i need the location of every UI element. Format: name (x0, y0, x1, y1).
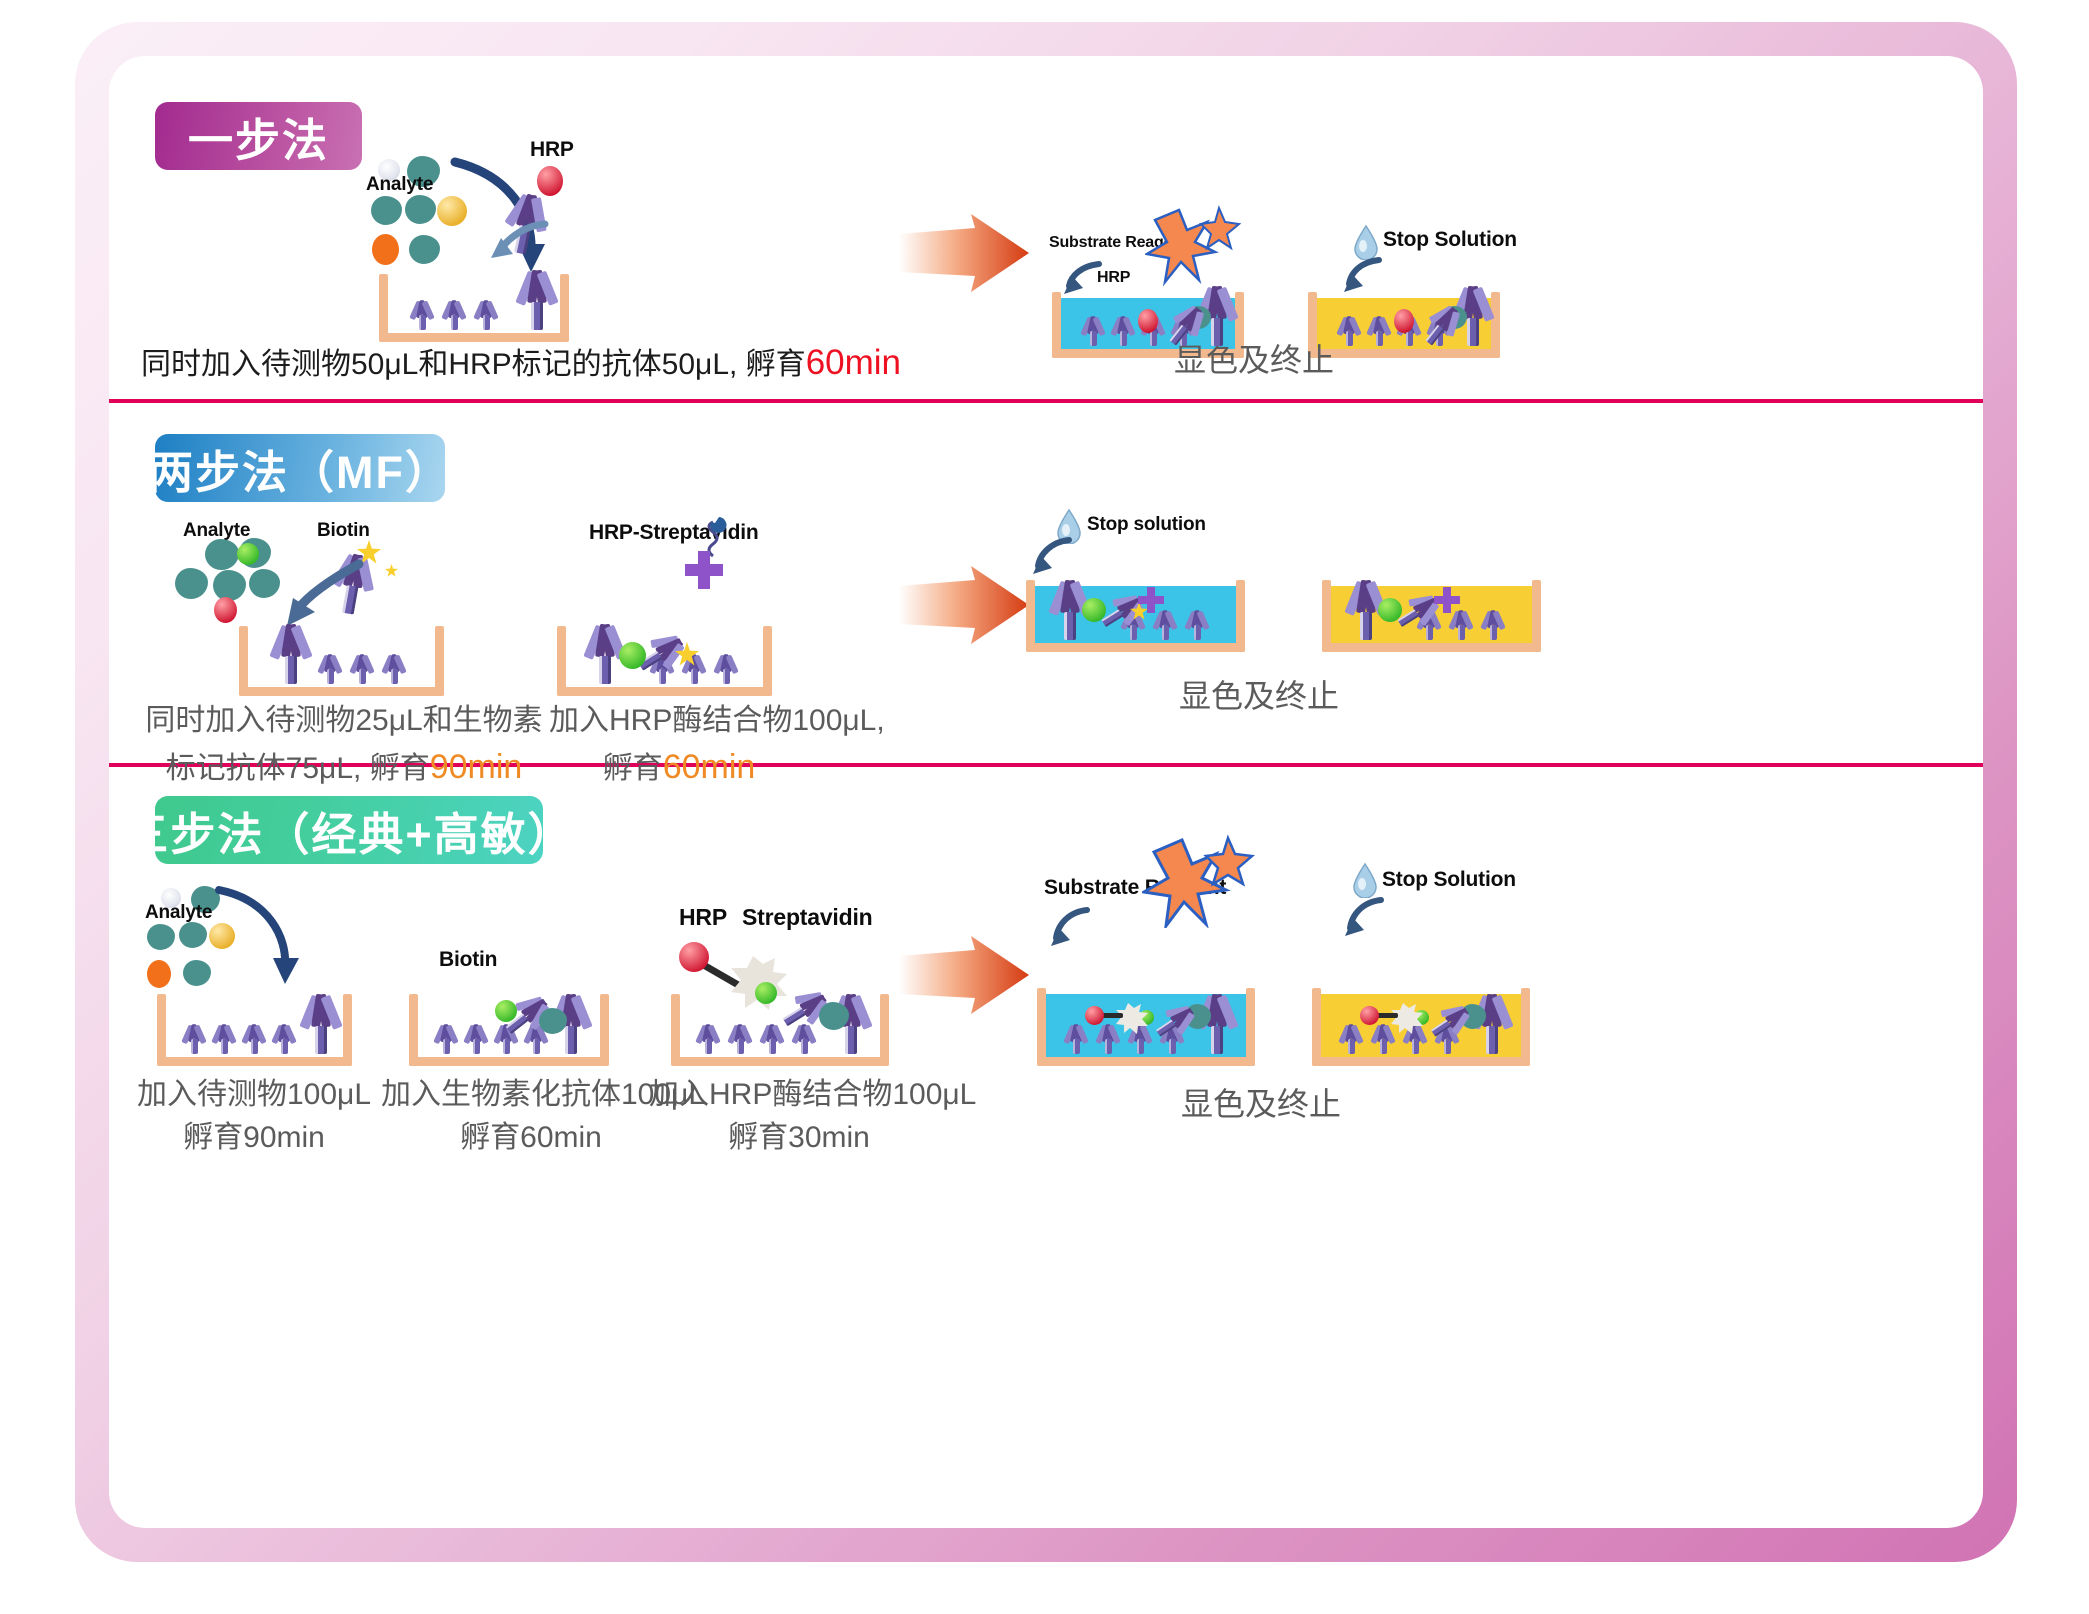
caption-row3-step2-l2: 孵育60min (460, 1121, 602, 1154)
biotin-tag-icon (619, 642, 646, 669)
row-divider-1 (109, 399, 1983, 403)
analyte-blob (183, 960, 211, 986)
hrp-enzyme-icon (1138, 309, 1158, 333)
capture-antibody (409, 300, 435, 330)
streptavidin-label-row3: Streptavidin (742, 904, 873, 931)
microplate-well-coated-row3 (157, 994, 352, 1066)
analyte-blob (205, 539, 239, 570)
caption-row3-step1-l2: 孵育90min (183, 1121, 325, 1154)
analyte-blob (409, 235, 440, 264)
stop-add-arrow-icon (1341, 254, 1387, 296)
microplate-well-developed-row3 (1037, 988, 1255, 1066)
stop-solution-label-row3: Stop Solution (1382, 868, 1516, 892)
caption-row3-step1: 加入待测物100μL 孵育90min (119, 1074, 389, 1159)
biotin-label-row2: Biotin (317, 520, 370, 542)
microplate-well-coated-row1 (379, 274, 569, 342)
caption-row2-step2-l2a: 孵育 (603, 752, 663, 785)
stop-add-arrow-row2-icon (1029, 534, 1077, 578)
caption-row3-step2: 加入生物素化抗体100μL 孵育60min (381, 1074, 681, 1159)
capture-antibody (473, 300, 499, 330)
sparkle-burst-row3-icon (1142, 834, 1262, 928)
analyte-red-blob (214, 597, 237, 623)
microplate-well-stopped-row2 (1322, 580, 1541, 652)
caption-row2-step2: 加入HRP酶结合物100μL, 孵育60min (549, 700, 809, 791)
streptavidin-icon (1147, 587, 1155, 613)
analyte-blob (179, 922, 207, 948)
diagram-canvas: 一步法 Analyte HRP 同时加入待测物50μL和HRP标记的抗体50μL… (109, 56, 1983, 1528)
caption-row2-step1-l2a: 标记抗体75μL, 孵育 (166, 752, 430, 785)
biotin-tag-icon (237, 543, 259, 565)
caption-row2-step2-time: 60min (663, 748, 756, 786)
caption-row2-step1-time: 90min (430, 748, 523, 786)
caption-row3-step3-l1: 加入HRP酶结合物100μL (649, 1078, 976, 1111)
biotin-tag-icon (495, 1000, 517, 1022)
stop-add-arrow-row3-icon (1341, 894, 1389, 940)
microplate-well-stopped-row1 (1308, 292, 1500, 358)
analyte-blob (371, 196, 402, 225)
analyte-label: Analyte (366, 174, 433, 196)
analyte-blob (147, 924, 175, 950)
analyte-blob (213, 570, 246, 601)
biotin-tag-icon (755, 982, 777, 1004)
analyte-blob (405, 195, 436, 224)
streptavidin-icon (1390, 1002, 1424, 1034)
hrp-label: HRP (530, 138, 574, 162)
biotin-label-row3: Biotin (439, 948, 497, 972)
hrp-add-arrow-icon (487, 216, 553, 268)
hrp-enzyme-icon (1085, 1006, 1104, 1025)
stop-solution-label: Stop Solution (1383, 228, 1517, 252)
caption-row1: 同时加入待测物50μL和HRP标记的抗体50μL, 孵育60min (141, 338, 901, 388)
stop-solution-label-row2: Stop solution (1087, 514, 1206, 536)
analyte-to-well-arrow-row3-icon (213, 882, 307, 988)
process-arrow-row3-icon (899, 936, 1029, 1014)
hrp-enzyme-icon (679, 942, 709, 972)
microplate-well-coated-row2 (239, 626, 444, 696)
caption-row3-step1-l1: 加入待测物100μL (137, 1078, 371, 1111)
process-arrow-row1-icon (899, 214, 1029, 292)
microplate-well-biotin-row3 (409, 994, 609, 1066)
microplate-well-stopped-row3 (1312, 988, 1530, 1066)
caption-row1-main: 同时加入待测物50μL和HRP标记的抗体50μL, 孵育 (141, 348, 806, 381)
caption-row2-step1: 同时加入待测物25μL和生物素 标记抗体75μL, 孵育90min (129, 700, 559, 791)
hrp-enzyme-icon (1394, 309, 1414, 333)
hrp-enzyme-icon (537, 166, 563, 196)
streptavidin-icon (698, 551, 710, 589)
section-badge-one-step: 一步法 (155, 102, 362, 170)
sparkle-burst-icon (1145, 204, 1253, 288)
capture-antibody-large (515, 270, 559, 330)
hrp-streptavidin-label: HRP-Streptavidin (589, 521, 759, 545)
microplate-well-conjugate-row2 (557, 626, 772, 696)
caption-row2-result: 显色及终止 (1179, 674, 1339, 719)
hrp-enzyme-icon (1360, 1006, 1379, 1025)
hrp-label-row3: HRP (679, 904, 727, 931)
substrate-add-arrow-row3-icon (1047, 904, 1095, 950)
decorative-outer-frame: 一步法 Analyte HRP 同时加入待测物50μL和HRP标记的抗体50μL… (75, 22, 2017, 1562)
caption-row2-step1-l1: 同时加入待测物25μL和生物素 (145, 704, 542, 737)
biotin-star-icon (385, 564, 398, 577)
caption-row2-step2-l1: 加入HRP酶结合物100μL, (549, 704, 885, 737)
analyte-orange-blob (372, 234, 399, 265)
microplate-well-developed-row2 (1026, 580, 1245, 652)
streptavidin-icon (1115, 1002, 1149, 1034)
caption-row3-result: 显色及终止 (1181, 1082, 1341, 1127)
capture-antibody (441, 300, 467, 330)
analyte-label-row3: Analyte (145, 902, 212, 924)
caption-row3-step3: 加入HRP酶结合物100μL 孵育30min (649, 1074, 949, 1159)
section-badge-two-step: 两步法（MF） (155, 434, 445, 502)
section-badge-three-step: 三步法（经典+高敏） (155, 796, 543, 864)
caption-row1-time: 60min (806, 343, 901, 382)
caption-row3-step3-l2: 孵育30min (728, 1121, 870, 1154)
process-arrow-row2-icon (899, 566, 1029, 644)
streptavidin-icon (1443, 587, 1451, 613)
analyte-blob (175, 568, 208, 599)
analyte-orange-blob (147, 960, 171, 988)
droplet-icon (1352, 862, 1378, 898)
